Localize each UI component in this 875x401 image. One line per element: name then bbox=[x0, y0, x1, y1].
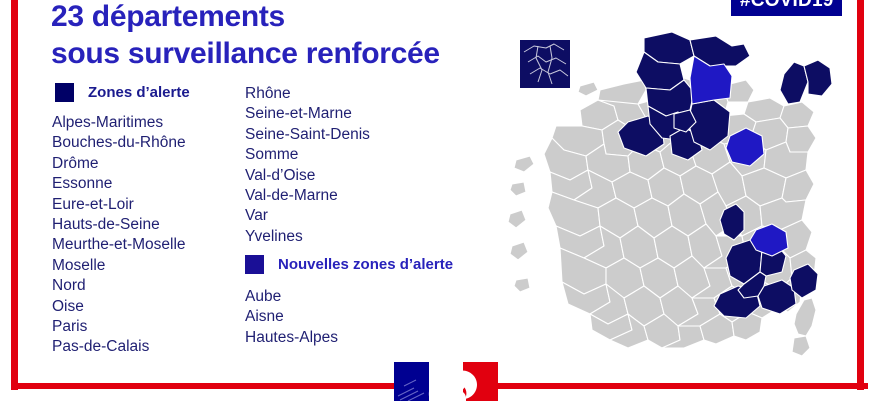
legend-swatch-nouvelles-icon bbox=[245, 255, 264, 274]
new-alert-department-list: AubeAisneHautes-Alpes bbox=[245, 287, 338, 348]
frame-border-bottom-right bbox=[497, 383, 868, 389]
department-list-item: Aube bbox=[245, 287, 338, 307]
france-map-svg bbox=[494, 18, 866, 360]
legend-nouvelles-zones-alerte: Nouvelles zones d’alerte bbox=[245, 255, 453, 274]
department-list-item: Drôme bbox=[52, 154, 186, 174]
department-list-item: Rhône bbox=[245, 84, 370, 104]
department-list-item: Somme bbox=[245, 145, 370, 165]
legend-label-nouvelles: Nouvelles zones d’alerte bbox=[278, 256, 453, 273]
department-list-item: Moselle bbox=[52, 256, 186, 276]
department-list-item: Oise bbox=[52, 297, 186, 317]
page-title: 23 départements sous surveillance renfor… bbox=[51, 0, 481, 72]
legend-zones-alerte: Zones d’alerte bbox=[55, 83, 190, 102]
department-list-item: Paris bbox=[52, 317, 186, 337]
department-list-item: Seine-Saint-Denis bbox=[245, 125, 370, 145]
legend-swatch-alerte-icon bbox=[55, 83, 74, 102]
department-list-item: Meurthe-et-Moselle bbox=[52, 235, 186, 255]
poster-canvas: #COVID19 23 départements sous surveillan… bbox=[0, 0, 875, 401]
map-paris-inset bbox=[520, 40, 570, 88]
france-map bbox=[494, 18, 866, 360]
department-list-item: Val-d’Oise bbox=[245, 166, 370, 186]
department-list-item: Eure-et-Loir bbox=[52, 195, 186, 215]
department-list-item: Aisne bbox=[245, 307, 338, 327]
department-list-item: Val-de-Marne bbox=[245, 186, 370, 206]
hashtag-badge: #COVID19 bbox=[731, 0, 842, 16]
department-list-item: Var bbox=[245, 206, 370, 226]
department-list-item: Yvelines bbox=[245, 227, 370, 247]
department-list-item: Pas-de-Calais bbox=[52, 337, 186, 357]
frame-border-bottom-left bbox=[11, 383, 397, 389]
page-title-line-1: 23 départements bbox=[51, 0, 481, 36]
marianne-logo bbox=[394, 362, 498, 401]
map-corsica bbox=[792, 298, 816, 356]
department-list-item: Bouches-du-Rhône bbox=[52, 133, 186, 153]
page-title-line-2: sous surveillance renforcée bbox=[51, 36, 481, 73]
legend-label-alerte: Zones d’alerte bbox=[88, 84, 190, 101]
department-list-item: Hauts-de-Seine bbox=[52, 215, 186, 235]
department-list-item: Seine-et-Marne bbox=[245, 104, 370, 124]
department-list-item: Essonne bbox=[52, 174, 186, 194]
department-list-column-1: Alpes-MaritimesBouches-du-RhôneDrômeEsso… bbox=[52, 113, 186, 358]
frame-border-left bbox=[11, 0, 18, 390]
department-list-item: Hautes-Alpes bbox=[245, 328, 338, 348]
department-list-column-2: RhôneSeine-et-MarneSeine-Saint-DenisSomm… bbox=[245, 84, 370, 247]
marianne-logo-svg bbox=[394, 362, 498, 401]
department-list-item: Alpes-Maritimes bbox=[52, 113, 186, 133]
department-list-item: Nord bbox=[52, 276, 186, 296]
